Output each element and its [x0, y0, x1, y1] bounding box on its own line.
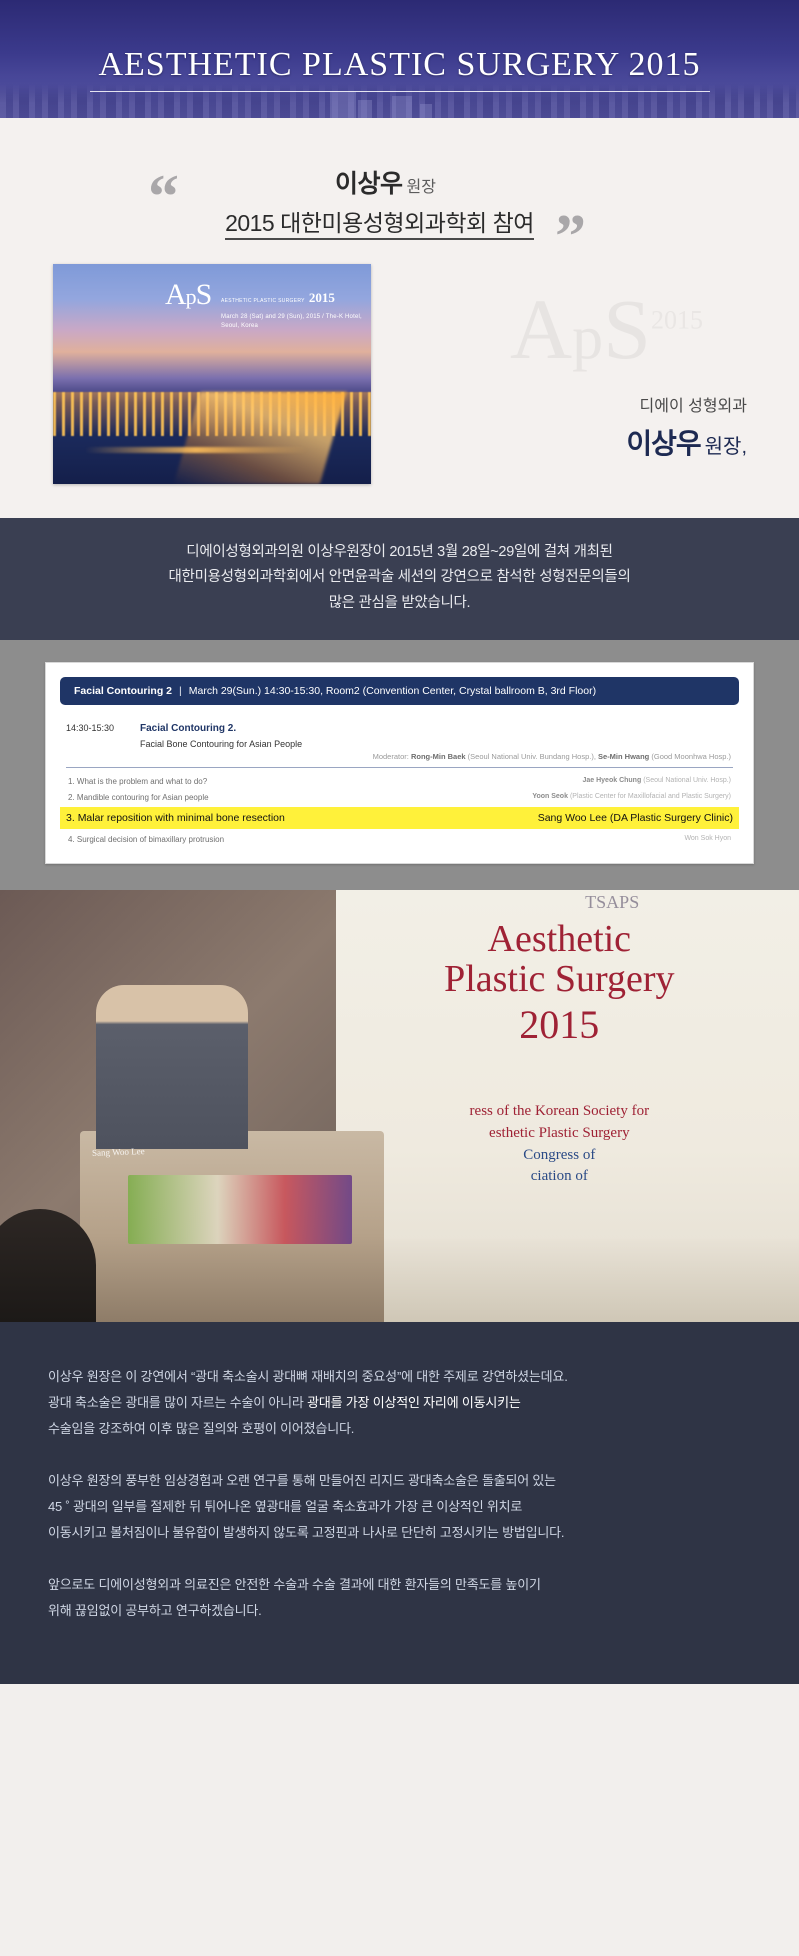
backdrop-title: Aesthetic Plastic Surgery 2015: [368, 920, 752, 1046]
backdrop-subtitle: ress of the Korean Society for esthetic …: [336, 1101, 783, 1188]
program-item: 2. Mandible contouring for Asian people …: [66, 789, 733, 805]
aps-watermark: ApS2015: [510, 286, 703, 372]
doctor-title: 원장: [407, 179, 436, 196]
program-item-text: What is the problem and what to do?: [77, 777, 207, 786]
program-item-highlighted: 3. Malar reposition with minimal bone re…: [60, 807, 739, 829]
session-header-bar: Facial Contouring 2|March 29(Sun.) 14:30…: [60, 677, 739, 705]
poster-dateline: March 28 (Sat) and 29 (Sun), 2015 / The-…: [221, 313, 371, 331]
program-item-affiliation: (Plastic Center for Maxillofacial and Pl…: [570, 793, 731, 800]
quote-line-1: 이상우원장: [0, 164, 799, 200]
program-item-text: Malar reposition with minimal bone resec…: [78, 812, 285, 824]
podium-banner: [128, 1175, 352, 1244]
backdrop-sub-2: esthetic Plastic Surgery: [336, 1123, 783, 1145]
conference-poster-image: ApS AESTHETIC PLASTIC SURGERY2015 March …: [53, 264, 371, 484]
speaker-figure: [96, 985, 248, 1149]
paragraph-3: 앞으로도 디에이성형외과 의료진은 안전한 수술과 수술 결과에 대한 환자들의…: [48, 1572, 751, 1624]
page-title: AESTHETIC PLASTIC SURGERY 2015: [0, 0, 799, 84]
backdrop-title-line-1: Aesthetic: [368, 920, 752, 960]
head-table: [384, 1239, 799, 1321]
schedule-block: 14:30-15:30 Facial Contouring 2. Facial …: [60, 721, 739, 846]
poster-logo-a: A: [165, 278, 186, 311]
paragraph-1-line-1: 이상우 원장은 이 강연에서 “광대 축소술시 광대뼈 재배치의 중요성”에 대…: [48, 1369, 568, 1384]
skyline-buildings: [0, 88, 799, 118]
backdrop-title-line-2: Plastic Surgery: [368, 960, 752, 1000]
paragraph-2-line-3: 이동시키고 볼처짐이나 불유합이 발생하지 않도록 고정핀과 나사로 단단히 고…: [48, 1525, 564, 1540]
clinic-name: 디에이 성형외과: [640, 392, 748, 416]
paragraph-2: 이상우 원장의 풍부한 임상경험과 오랜 연구를 통해 만들어진 리지드 광대축…: [48, 1468, 751, 1546]
backdrop-sub-3: Congress of: [336, 1145, 783, 1167]
paragraph-3-line-2: 위해 끊임없이 공부하고 연구하겠습니다.: [48, 1603, 262, 1618]
paragraph-2-line-1: 이상우 원장의 풍부한 임상경험과 오랜 연구를 통해 만들어진 리지드 광대축…: [48, 1473, 556, 1488]
summary-banner: 디에이성형외과의원 이상우원장이 2015년 3월 28일~29일에 걸쳐 개최…: [0, 518, 799, 640]
program-item-affiliation: (Seoul National Univ. Hosp.): [643, 777, 731, 784]
poster-area: ApS AESTHETIC PLASTIC SURGERY2015 March …: [0, 256, 799, 518]
paragraph-3-line-1: 앞으로도 디에이성형외과 의료진은 안전한 수술과 수술 결과에 대한 환자들의…: [48, 1577, 541, 1592]
paragraph-1-line-2a: 광대 축소술은 광대를 많이 자르는 수술이 아니라: [48, 1395, 307, 1410]
doctor-name: 이상우: [335, 170, 403, 198]
quote-section: “ 이상우원장 2015 대한미용성형외과학회 참여 ”: [0, 118, 799, 256]
poster-logo-s: S: [196, 278, 212, 311]
summary-line-3: 많은 관심을 받았습니다.: [20, 591, 779, 616]
moderator-line: Moderator: Rong-Min Baek (Seoul National…: [66, 752, 733, 761]
poster-highway-lights: [173, 392, 346, 484]
program-item-number: 4.: [68, 835, 75, 844]
program-item-speaker: Sang Woo Lee (DA Plastic Surgery Clinic): [538, 812, 733, 824]
schedule-subtitle: Facial Bone Contouring for Asian People: [140, 737, 733, 751]
title-underline: [90, 91, 710, 92]
session-name: Facial Contouring 2: [74, 685, 172, 697]
doctor-credit: 이상우원장,: [626, 422, 747, 462]
backdrop-sub-1: ress of the Korean Society for: [336, 1101, 783, 1123]
program-item-number: 3.: [66, 812, 75, 824]
schedule-title: Facial Contouring 2.: [140, 721, 733, 737]
paragraph-2-line-2: 45 ˚ 광대의 일부를 절제한 뒤 튀어나온 옆광대를 얼굴 축소효과가 가장…: [48, 1499, 522, 1514]
program-item-number: 2.: [68, 793, 75, 802]
poster-year: 2015: [309, 288, 335, 308]
backdrop-title-line-3: 2015: [368, 1004, 752, 1046]
article-body: 이상우 원장은 이 강연에서 “광대 축소술시 광대뼈 재배치의 중요성”에 대…: [0, 1322, 799, 1684]
paragraph-1: 이상우 원장은 이 강연에서 “광대 축소술시 광대뼈 재배치의 중요성”에 대…: [48, 1364, 751, 1442]
watermark-year: 2015: [651, 305, 703, 334]
quote-line-2: 2015 대한미용성형외과학회 참여: [0, 204, 799, 238]
page-header: AESTHETIC PLASTIC SURGERY 2015: [0, 0, 799, 118]
summary-line-2: 대한미용성형외과학회에서 안면윤곽술 세션의 강연으로 참석한 성형전문의들의: [20, 565, 779, 590]
paragraph-1-highlight: 광대를 가장 이상적인 자리에 이동시키는: [307, 1395, 521, 1410]
program-item-speaker: Yoon Seok: [532, 793, 568, 800]
poster-bridge-lights: [85, 447, 308, 453]
program-item-speaker: Won Sok Hyon: [684, 835, 731, 844]
program-item-number: 1.: [68, 777, 75, 786]
program-item-text: Mandible contouring for Asian people: [77, 793, 209, 802]
session-meta: March 29(Sun.) 14:30-15:30, Room2 (Conve…: [189, 685, 596, 697]
poster-subtitle: AESTHETIC PLASTIC SURGERY: [221, 298, 305, 306]
schedule-divider: [66, 767, 733, 768]
program-item-text: Surgical decision of bimaxillary protrus…: [77, 835, 224, 844]
paragraph-1-line-3: 수술임을 강조하여 이후 많은 질의와 호평이 이어졌습니다.: [48, 1421, 354, 1436]
moderator-2-affiliation: (Good Moonhwa Hosp.): [651, 752, 731, 761]
schedule-row: 14:30-15:30 Facial Contouring 2. Facial …: [66, 721, 733, 751]
conference-participation-text: 2015 대한미용성형외과학회 참여: [225, 210, 534, 240]
backdrop-sub-4: ciation of: [336, 1166, 783, 1188]
moderator-1-name: Rong-Min Baek: [411, 752, 466, 761]
session-separator: |: [179, 685, 182, 697]
program-card: Facial Contouring 2|March 29(Sun.) 14:30…: [45, 662, 754, 863]
promo-page: AESTHETIC PLASTIC SURGERY 2015 “ 이상우원장 2…: [0, 0, 799, 1684]
program-item: 1. What is the problem and what to do? J…: [66, 773, 733, 789]
doctor-credit-name: 이상우: [626, 428, 700, 459]
conference-photo: TSAPS Aesthetic Plastic Surgery 2015 res…: [0, 890, 799, 1322]
watermark-p: p: [572, 304, 603, 372]
watermark-a: A: [510, 281, 572, 377]
program-item-speaker: Jae Hyeok Chung: [582, 777, 641, 784]
program-section: Facial Contouring 2|March 29(Sun.) 14:30…: [0, 640, 799, 889]
program-item: 4. Surgical decision of bimaxillary prot…: [66, 831, 733, 847]
moderator-label: Moderator:: [373, 752, 409, 761]
tsaps-logo: TSAPS: [585, 892, 639, 913]
poster-logo-p: p: [186, 284, 196, 309]
schedule-time: 14:30-15:30: [66, 721, 140, 751]
poster-meta: AESTHETIC PLASTIC SURGERY2015 March 28 (…: [221, 286, 371, 331]
watermark-s: S: [603, 281, 651, 377]
doctor-credit-title: 원장,: [705, 436, 747, 458]
poster-aps-logo: ApS: [165, 280, 211, 310]
summary-line-1: 디에이성형외과의원 이상우원장이 2015년 3월 28일~29일에 걸쳐 개최…: [20, 540, 779, 565]
moderator-2-name: Se-Min Hwang: [598, 752, 649, 761]
moderator-1-affiliation: (Seoul National Univ. Bundang Hosp.): [468, 752, 594, 761]
